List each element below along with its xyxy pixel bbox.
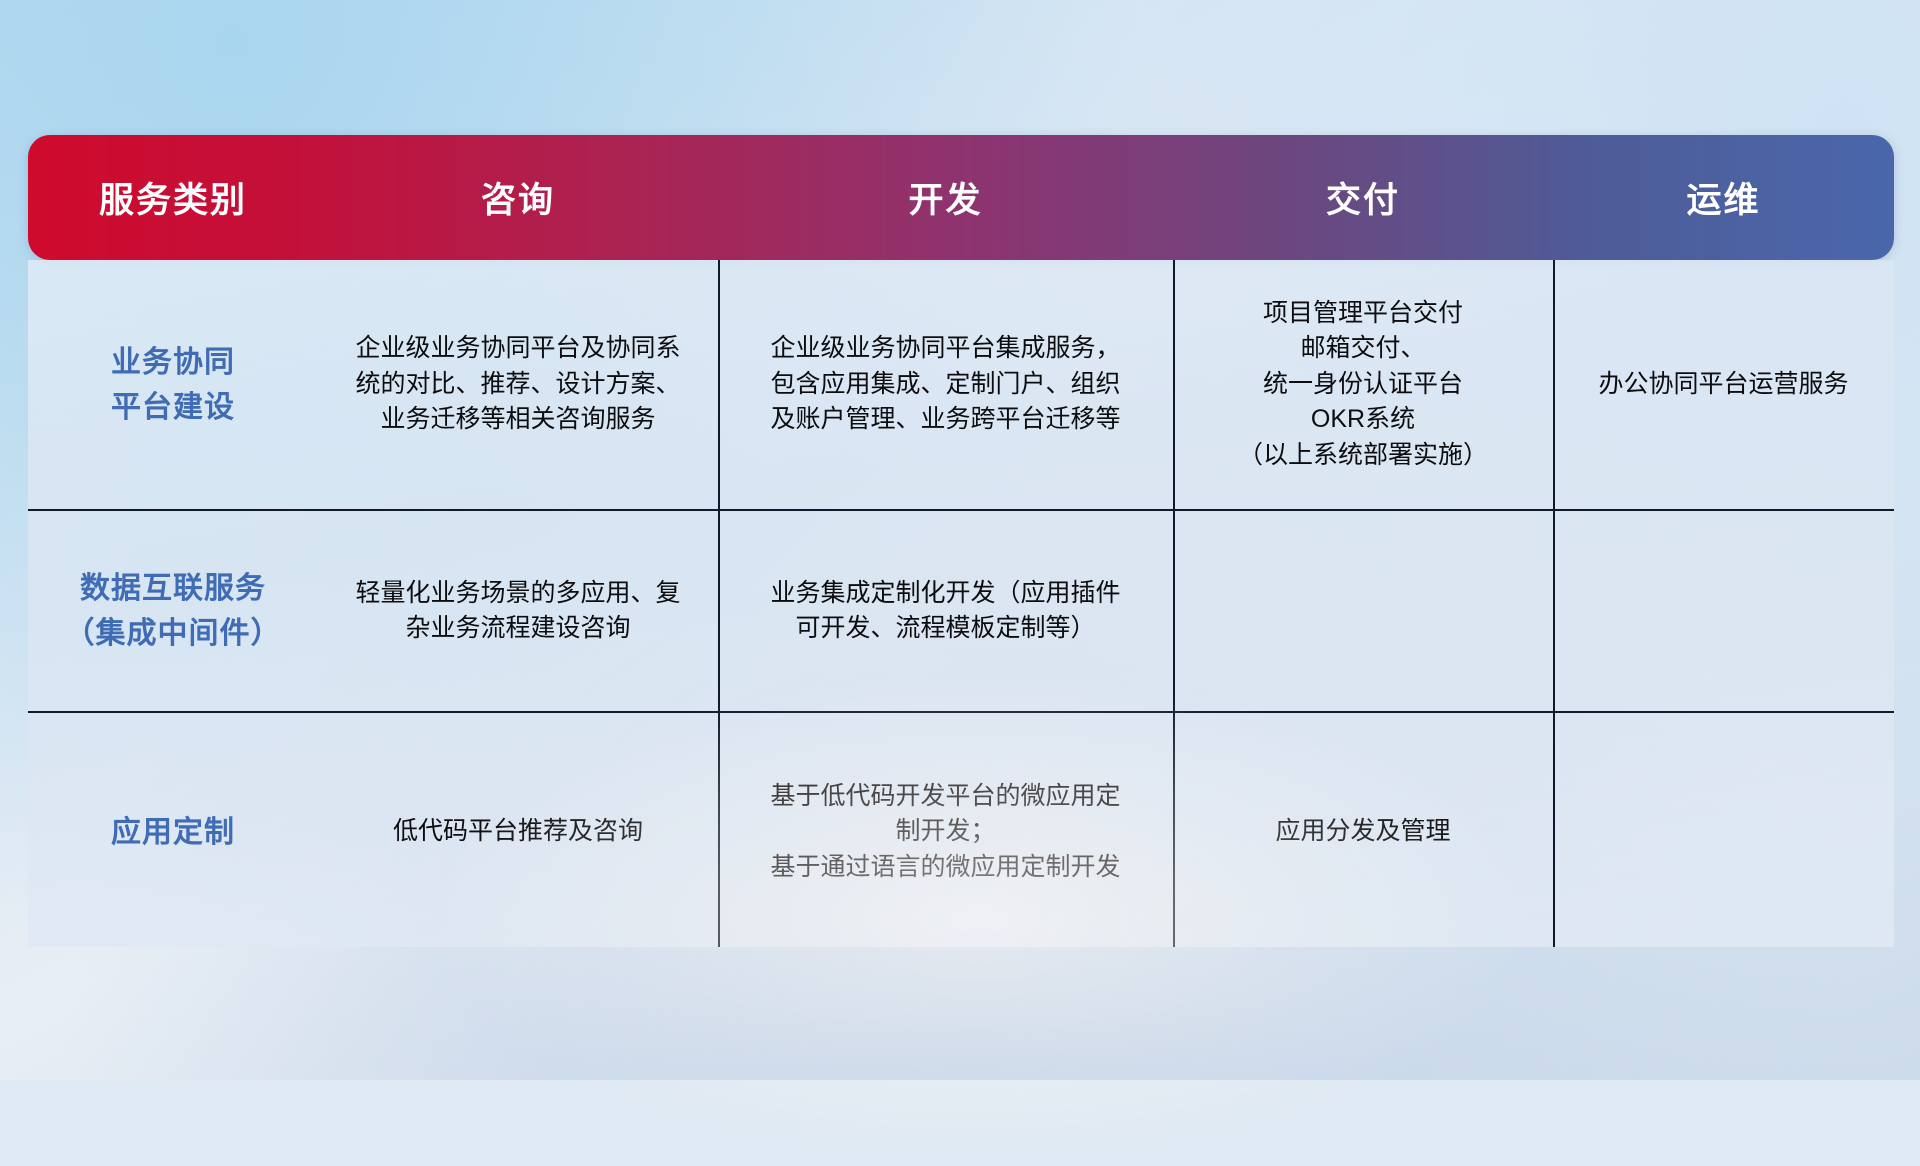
- table-row: 应用定制 低代码平台推荐及咨询 基于低代码开发平台的微应用定 制开发； 基于通过…: [28, 713, 1894, 951]
- cell-category: 应用定制: [28, 713, 318, 951]
- cell-delivery: 项目管理平台交付 邮箱交付、 统一身份认证平台 OKR系统 （以上系统部署实施）: [1173, 260, 1553, 509]
- cell-consulting: 企业级业务协同平台及协同系 统的对比、推荐、设计方案、 业务迁移等相关咨询服务: [318, 260, 718, 509]
- column-header-development: 开发: [718, 172, 1173, 223]
- column-header-category: 服务类别: [28, 172, 318, 223]
- table-row: 业务协同 平台建设 企业级业务协同平台及协同系 统的对比、推荐、设计方案、 业务…: [28, 260, 1894, 511]
- service-matrix-table: 服务类别 咨询 开发 交付 运维 业务协同 平台建设 企业级业务协同平台及协同系…: [28, 135, 1894, 947]
- cell-operations: 办公协同平台运营服务: [1553, 260, 1894, 509]
- column-header-delivery: 交付: [1173, 172, 1553, 223]
- table-header-row: 服务类别 咨询 开发 交付 运维: [28, 135, 1894, 260]
- cell-category: 业务协同 平台建设: [28, 260, 318, 509]
- table-row: 数据互联服务 （集成中间件） 轻量化业务场景的多应用、复 杂业务流程建设咨询 业…: [28, 511, 1894, 713]
- cell-delivery: 应用分发及管理: [1173, 713, 1553, 951]
- column-header-consulting: 咨询: [318, 172, 718, 223]
- cell-consulting: 低代码平台推荐及咨询: [318, 713, 718, 951]
- cell-development: 企业级业务协同平台集成服务， 包含应用集成、定制门户、组织 及账户管理、业务跨平…: [718, 260, 1173, 509]
- cell-category: 数据互联服务 （集成中间件）: [28, 511, 318, 711]
- cell-development: 业务集成定制化开发（应用插件 可开发、流程模板定制等）: [718, 511, 1173, 711]
- cell-operations: [1553, 713, 1894, 951]
- cell-delivery: [1173, 511, 1553, 711]
- page-canvas: 服务类别 咨询 开发 交付 运维 业务协同 平台建设 企业级业务协同平台及协同系…: [0, 0, 1920, 1080]
- cell-development: 基于低代码开发平台的微应用定 制开发； 基于通过语言的微应用定制开发: [718, 713, 1173, 951]
- cell-operations: [1553, 511, 1894, 711]
- column-header-operations: 运维: [1553, 172, 1894, 223]
- cell-consulting: 轻量化业务场景的多应用、复 杂业务流程建设咨询: [318, 511, 718, 711]
- table-body: 业务协同 平台建设 企业级业务协同平台及协同系 统的对比、推荐、设计方案、 业务…: [28, 260, 1894, 947]
